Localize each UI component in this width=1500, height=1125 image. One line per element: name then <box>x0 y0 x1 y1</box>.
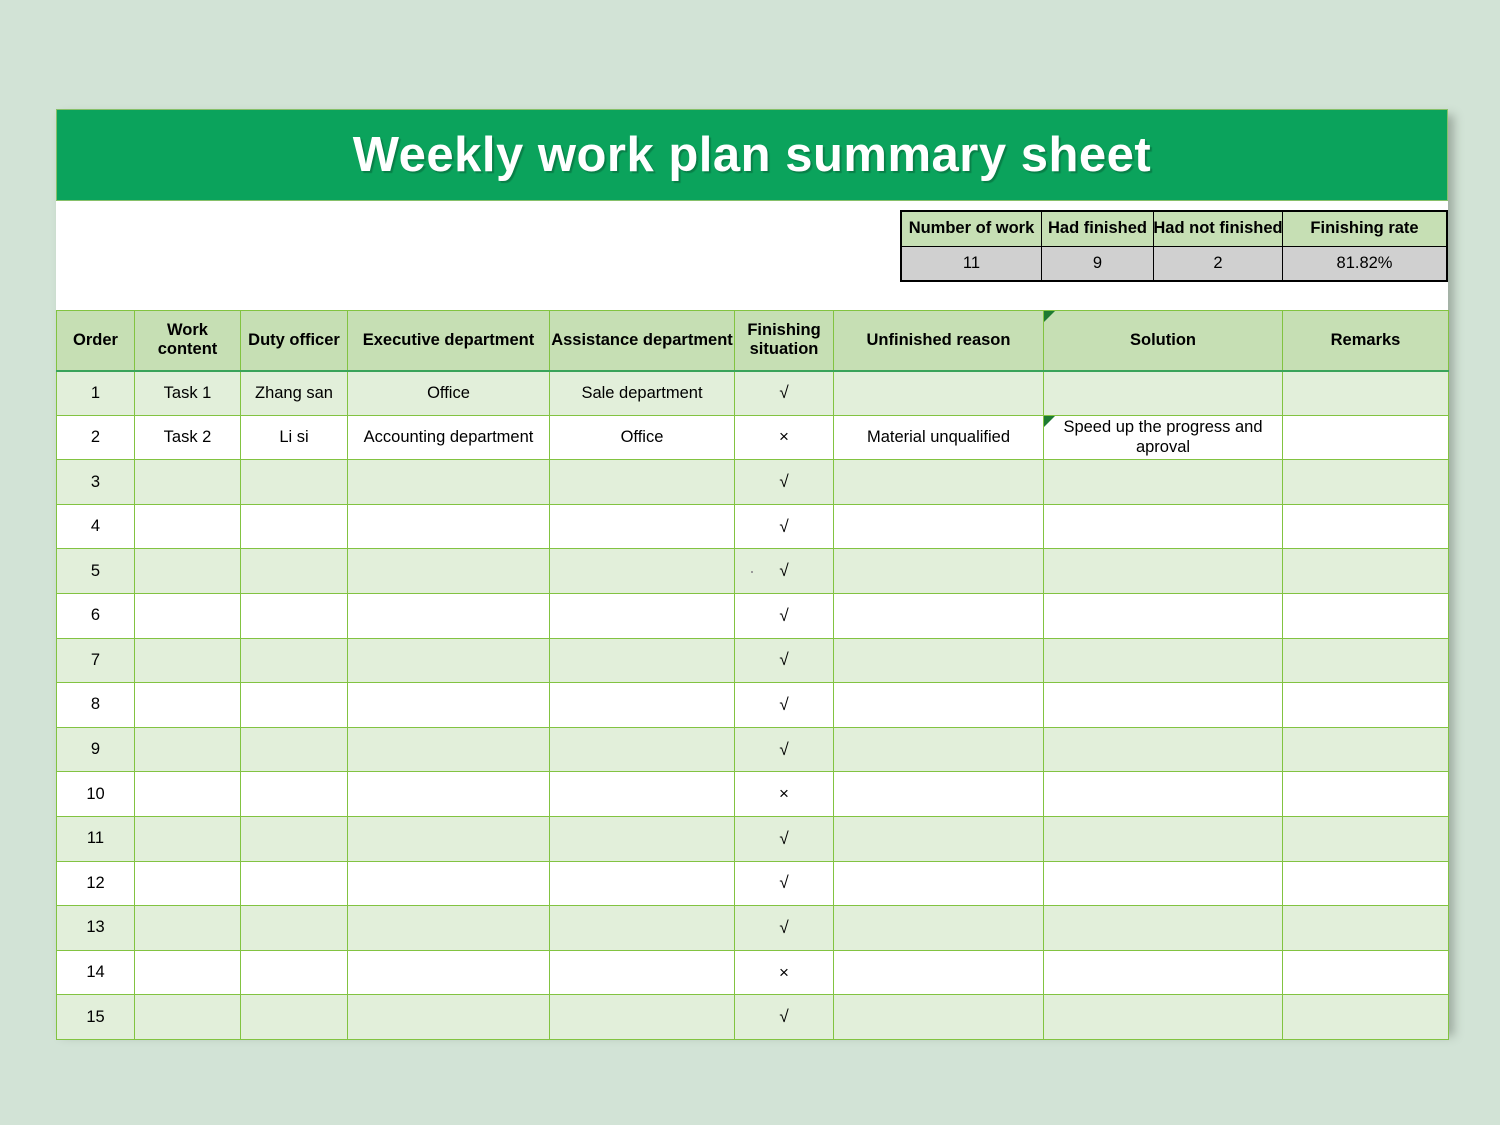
cell-assistance-department[interactable]: Sale department <box>550 371 735 416</box>
cell-solution[interactable] <box>1044 861 1283 906</box>
cell-assistance-department[interactable] <box>550 861 735 906</box>
cell-duty-officer[interactable] <box>241 772 348 817</box>
not-finished-cross-icon: × <box>779 963 789 982</box>
table-header-row: Order Work content Duty officer Executiv… <box>57 311 1449 371</box>
cell-unfinished-reason[interactable] <box>834 727 1044 772</box>
cell-solution[interactable] <box>1044 504 1283 549</box>
column-header-assistance-department[interactable]: Assistance department <box>550 311 735 371</box>
cell-finishing-situation[interactable]: √ <box>735 995 834 1040</box>
cell-order[interactable]: 5 <box>57 549 135 594</box>
cell-work-content[interactable] <box>135 772 241 817</box>
cell-assistance-department[interactable] <box>550 638 735 683</box>
cell-assistance-department[interactable] <box>550 593 735 638</box>
cell-order[interactable]: 14 <box>57 950 135 995</box>
cell-work-content[interactable] <box>135 950 241 995</box>
cell-work-content[interactable] <box>135 683 241 728</box>
cell-assistance-department[interactable] <box>550 504 735 549</box>
cell-artifact-dot <box>751 571 753 573</box>
cell-remarks[interactable] <box>1283 906 1449 951</box>
cell-unfinished-reason[interactable] <box>834 816 1044 861</box>
finished-check-icon: √ <box>779 650 788 669</box>
summary-header-row: Number of work Had finished Had not fini… <box>902 212 1446 246</box>
cell-work-content[interactable] <box>135 460 241 505</box>
cell-unfinished-reason[interactable] <box>834 995 1044 1040</box>
cell-assistance-department[interactable] <box>550 950 735 995</box>
cell-executive-department[interactable] <box>348 772 550 817</box>
not-finished-cross-icon: × <box>779 784 789 803</box>
cell-duty-officer[interactable] <box>241 861 348 906</box>
cell-assistance-department[interactable] <box>550 549 735 594</box>
sheet-title-bar: Weekly work plan summary sheet <box>56 109 1448 201</box>
cell-finishing-situation[interactable]: √ <box>735 504 834 549</box>
cell-work-content[interactable] <box>135 638 241 683</box>
cell-unfinished-reason[interactable] <box>834 683 1044 728</box>
cell-executive-department[interactable] <box>348 504 550 549</box>
cell-remarks[interactable] <box>1283 950 1449 995</box>
spreadsheet-sheet: Weekly work plan summary sheet Number of… <box>56 109 1448 1030</box>
cell-unfinished-reason[interactable] <box>834 772 1044 817</box>
cell-assistance-department[interactable] <box>550 816 735 861</box>
comment-indicator-icon <box>1044 416 1055 427</box>
cell-remarks[interactable] <box>1283 861 1449 906</box>
cell-duty-officer[interactable]: Zhang san <box>241 371 348 416</box>
cell-unfinished-reason[interactable] <box>834 906 1044 951</box>
not-finished-cross-icon: × <box>779 427 789 446</box>
cell-executive-department[interactable] <box>348 593 550 638</box>
cell-solution[interactable] <box>1044 995 1283 1040</box>
cell-finishing-situation[interactable]: √ <box>735 906 834 951</box>
cell-executive-department[interactable]: Office <box>348 371 550 416</box>
cell-unfinished-reason[interactable] <box>834 638 1044 683</box>
cell-solution[interactable] <box>1044 371 1283 416</box>
summary-header-finishing-rate: Finishing rate <box>1283 212 1446 246</box>
table-body: 1Task 1Zhang sanOfficeSale department√2T… <box>57 371 1449 1040</box>
table-row: 3√ <box>57 460 1449 505</box>
cell-finishing-situation[interactable]: √ <box>735 593 834 638</box>
cell-duty-officer[interactable] <box>241 593 348 638</box>
cell-assistance-department[interactable] <box>550 727 735 772</box>
summary-value-had-not-finished[interactable]: 2 <box>1154 247 1283 281</box>
cell-duty-officer[interactable] <box>241 683 348 728</box>
summary-header-had-finished: Had finished <box>1042 212 1154 246</box>
cell-remarks[interactable] <box>1283 816 1449 861</box>
cell-solution[interactable] <box>1044 593 1283 638</box>
table-row: 11√ <box>57 816 1449 861</box>
table-row: 4√ <box>57 504 1449 549</box>
finished-check-icon: √ <box>779 829 788 848</box>
cell-finishing-situation[interactable]: √ <box>735 371 834 416</box>
cell-unfinished-reason[interactable] <box>834 861 1044 906</box>
cell-order[interactable]: 10 <box>57 772 135 817</box>
cell-assistance-department[interactable] <box>550 683 735 728</box>
cell-assistance-department[interactable] <box>550 772 735 817</box>
cell-executive-department[interactable] <box>348 549 550 594</box>
cell-solution[interactable] <box>1044 549 1283 594</box>
cell-order[interactable]: 8 <box>57 683 135 728</box>
cell-finishing-situation[interactable]: × <box>735 415 834 460</box>
cell-solution[interactable] <box>1044 950 1283 995</box>
cell-remarks[interactable] <box>1283 371 1449 416</box>
cell-solution[interactable]: Speed up the progress and aproval <box>1044 415 1283 460</box>
cell-finishing-situation[interactable]: √ <box>735 460 834 505</box>
cell-executive-department[interactable] <box>348 638 550 683</box>
cell-unfinished-reason[interactable] <box>834 460 1044 505</box>
summary-value-finishing-rate[interactable]: 81.82% <box>1283 247 1446 281</box>
cell-unfinished-reason[interactable] <box>834 549 1044 594</box>
cell-assistance-department[interactable] <box>550 906 735 951</box>
cell-duty-officer[interactable] <box>241 638 348 683</box>
column-header-solution-label: Solution <box>1130 331 1196 349</box>
table-row: 8√ <box>57 683 1449 728</box>
table-row: 15√ <box>57 995 1449 1040</box>
cell-unfinished-reason[interactable] <box>834 371 1044 416</box>
cell-duty-officer[interactable] <box>241 950 348 995</box>
cell-executive-department[interactable] <box>348 950 550 995</box>
cell-order[interactable]: 12 <box>57 861 135 906</box>
cell-duty-officer[interactable] <box>241 995 348 1040</box>
table-row: 1Task 1Zhang sanOfficeSale department√ <box>57 371 1449 416</box>
cell-finishing-situation[interactable]: √ <box>735 861 834 906</box>
cell-executive-department[interactable] <box>348 906 550 951</box>
cell-order[interactable]: 4 <box>57 504 135 549</box>
cell-executive-department[interactable] <box>348 460 550 505</box>
cell-solution[interactable] <box>1044 638 1283 683</box>
cell-solution[interactable] <box>1044 906 1283 951</box>
cell-executive-department[interactable]: Accounting department <box>348 415 550 460</box>
cell-remarks[interactable] <box>1283 593 1449 638</box>
table-row: 5√ <box>57 549 1449 594</box>
cell-finishing-situation[interactable]: √ <box>735 683 834 728</box>
cell-remarks[interactable] <box>1283 638 1449 683</box>
summary-value-had-finished[interactable]: 9 <box>1042 247 1154 281</box>
cell-duty-officer[interactable] <box>241 460 348 505</box>
summary-value-number-of-work[interactable]: 11 <box>902 247 1042 281</box>
cell-remarks[interactable] <box>1283 460 1449 505</box>
cell-assistance-department[interactable] <box>550 460 735 505</box>
finished-check-icon: √ <box>779 918 788 937</box>
work-plan-table: Order Work content Duty officer Executiv… <box>56 310 1449 1040</box>
cell-finishing-situation[interactable]: √ <box>735 638 834 683</box>
finished-check-icon: √ <box>779 606 788 625</box>
cell-order[interactable]: 7 <box>57 638 135 683</box>
cell-order[interactable]: 9 <box>57 727 135 772</box>
cell-work-content[interactable] <box>135 816 241 861</box>
cell-work-content[interactable] <box>135 549 241 594</box>
cell-solution[interactable] <box>1044 683 1283 728</box>
column-header-duty-officer[interactable]: Duty officer <box>241 311 348 371</box>
cell-executive-department[interactable] <box>348 816 550 861</box>
column-header-work-content[interactable]: Work content <box>135 311 241 371</box>
cell-executive-department[interactable] <box>348 683 550 728</box>
cell-remarks[interactable] <box>1283 772 1449 817</box>
table-row: 13√ <box>57 906 1449 951</box>
column-header-unfinished-reason[interactable]: Unfinished reason <box>834 311 1044 371</box>
cell-work-content[interactable] <box>135 906 241 951</box>
table-row: 10× <box>57 772 1449 817</box>
cell-order[interactable]: 3 <box>57 460 135 505</box>
cell-remarks[interactable] <box>1283 415 1449 460</box>
cell-order[interactable]: 1 <box>57 371 135 416</box>
summary-value-row: 11 9 2 81.82% <box>902 246 1446 281</box>
finished-check-icon: √ <box>779 383 788 402</box>
column-header-finishing-situation[interactable]: Finishing situation <box>735 311 834 371</box>
cell-work-content[interactable] <box>135 593 241 638</box>
cell-remarks[interactable] <box>1283 683 1449 728</box>
table-row: 12√ <box>57 861 1449 906</box>
cell-solution[interactable] <box>1044 772 1283 817</box>
cell-finishing-situation[interactable]: √ <box>735 727 834 772</box>
cell-solution[interactable] <box>1044 460 1283 505</box>
finished-check-icon: √ <box>779 695 788 714</box>
summary-header-number-of-work: Number of work <box>902 212 1042 246</box>
table-row: 9√ <box>57 727 1449 772</box>
column-header-solution[interactable]: Solution <box>1044 311 1283 371</box>
cell-assistance-department[interactable] <box>550 995 735 1040</box>
page-title: Weekly work plan summary sheet <box>353 127 1151 183</box>
table-row: 7√ <box>57 638 1449 683</box>
table-row: 14× <box>57 950 1449 995</box>
finished-check-icon: √ <box>779 1007 788 1026</box>
cell-duty-officer[interactable] <box>241 727 348 772</box>
cell-finishing-situation[interactable]: √ <box>735 816 834 861</box>
cell-executive-department[interactable] <box>348 861 550 906</box>
cell-assistance-department[interactable]: Office <box>550 415 735 460</box>
cell-duty-officer[interactable] <box>241 816 348 861</box>
cell-finishing-situation[interactable]: × <box>735 950 834 995</box>
cell-work-content[interactable] <box>135 995 241 1040</box>
cell-finishing-situation[interactable]: √ <box>735 549 834 594</box>
finished-check-icon: √ <box>779 472 788 491</box>
finished-check-icon: √ <box>779 740 788 759</box>
finished-check-icon: √ <box>779 561 788 580</box>
summary-header-had-not-finished: Had not finished <box>1154 212 1283 246</box>
finished-check-icon: √ <box>779 873 788 892</box>
cell-duty-officer[interactable] <box>241 549 348 594</box>
cell-unfinished-reason[interactable] <box>834 593 1044 638</box>
finished-check-icon: √ <box>779 517 788 536</box>
cell-solution[interactable] <box>1044 727 1283 772</box>
column-header-executive-department[interactable]: Executive department <box>348 311 550 371</box>
cell-duty-officer[interactable]: Li si <box>241 415 348 460</box>
column-header-order[interactable]: Order <box>57 311 135 371</box>
cell-executive-department[interactable] <box>348 727 550 772</box>
cell-order[interactable]: 15 <box>57 995 135 1040</box>
comment-indicator-icon <box>1044 311 1055 322</box>
cell-order[interactable]: 6 <box>57 593 135 638</box>
cell-executive-department[interactable] <box>348 995 550 1040</box>
cell-solution-text: Speed up the progress and aproval <box>1044 417 1282 457</box>
cell-finishing-situation[interactable]: × <box>735 772 834 817</box>
cell-duty-officer[interactable] <box>241 906 348 951</box>
summary-statistics-box: Number of work Had finished Had not fini… <box>900 210 1448 282</box>
cell-work-content[interactable] <box>135 861 241 906</box>
cell-work-content[interactable] <box>135 727 241 772</box>
cell-order[interactable]: 13 <box>57 906 135 951</box>
cell-order[interactable]: 11 <box>57 816 135 861</box>
cell-remarks[interactable] <box>1283 504 1449 549</box>
cell-solution[interactable] <box>1044 816 1283 861</box>
cell-unfinished-reason[interactable] <box>834 504 1044 549</box>
cell-remarks[interactable] <box>1283 549 1449 594</box>
cell-work-content[interactable]: Task 1 <box>135 371 241 416</box>
cell-remarks[interactable] <box>1283 727 1449 772</box>
cell-duty-officer[interactable] <box>241 504 348 549</box>
cell-remarks[interactable] <box>1283 995 1449 1040</box>
cell-work-content[interactable] <box>135 504 241 549</box>
cell-order[interactable]: 2 <box>57 415 135 460</box>
table-row: 2Task 2Li siAccounting departmentOffice×… <box>57 415 1449 460</box>
column-header-remarks[interactable]: Remarks <box>1283 311 1449 371</box>
cell-unfinished-reason[interactable] <box>834 950 1044 995</box>
cell-unfinished-reason[interactable]: Material unqualified <box>834 415 1044 460</box>
cell-work-content[interactable]: Task 2 <box>135 415 241 460</box>
table-row: 6√ <box>57 593 1449 638</box>
